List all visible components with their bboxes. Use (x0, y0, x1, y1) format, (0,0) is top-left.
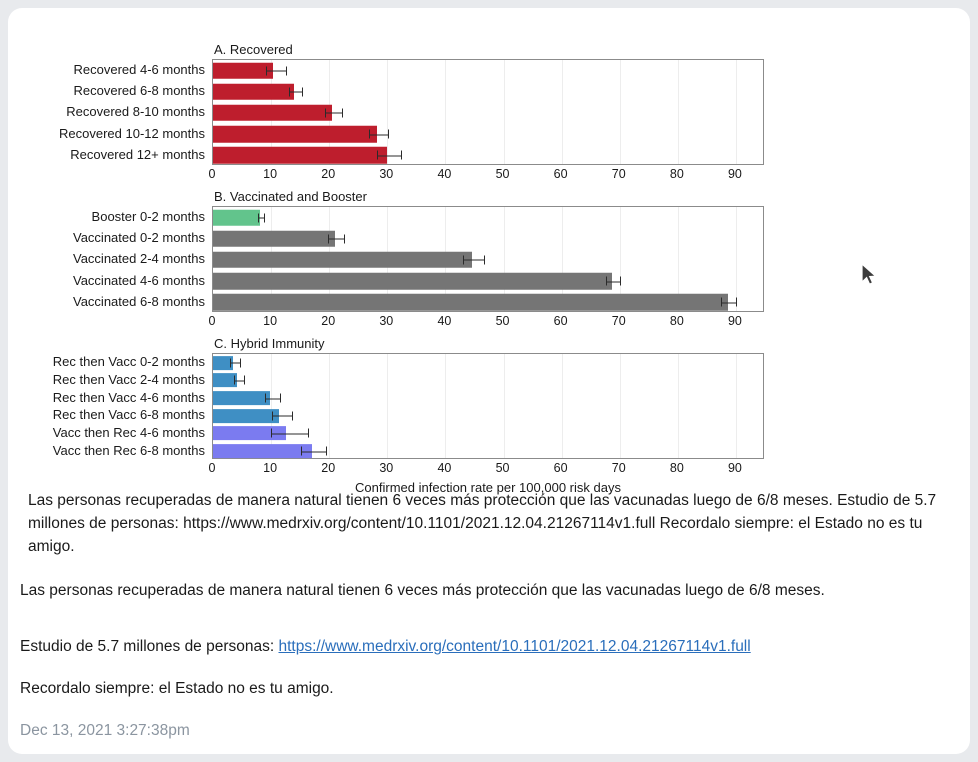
x-axis-ticks: 0102030405060708090 (212, 314, 764, 332)
paragraph-2-prefix: Estudio de 5.7 millones de personas: (20, 638, 279, 655)
bar (213, 62, 273, 79)
x-tick-label: 60 (554, 314, 568, 328)
post-paragraph-2: Estudio de 5.7 millones de personas: htt… (20, 636, 960, 658)
bar-row (213, 249, 763, 270)
error-bar (289, 87, 304, 96)
x-tick-label: 0 (209, 167, 216, 181)
category-label: Recovered 8-10 months (18, 101, 205, 122)
bar-row (213, 145, 763, 166)
panel-title: A. Recovered (214, 42, 293, 57)
category-label: Vacc then Rec 4-6 months (18, 424, 205, 442)
category-label: Recovered 12+ months (18, 144, 205, 165)
error-bar (234, 376, 245, 385)
category-label: Vaccinated 6-8 months (18, 291, 205, 312)
x-tick-label: 20 (321, 461, 335, 475)
bar-row (213, 271, 763, 292)
bar (213, 273, 612, 290)
bar-row (213, 425, 763, 443)
category-label: Recovered 6-8 months (18, 80, 205, 101)
x-tick-label: 30 (379, 314, 393, 328)
x-tick-label: 20 (321, 314, 335, 328)
bar-row (213, 292, 763, 313)
error-bar (301, 447, 327, 456)
image-alt-text: Las personas recuperadas de manera natur… (28, 489, 943, 558)
category-label: Booster 0-2 months (18, 206, 205, 227)
panel-title: C. Hybrid Immunity (214, 336, 325, 351)
error-bar (325, 108, 343, 117)
x-tick-label: 50 (496, 461, 510, 475)
post-card: A. RecoveredRecovered 4-6 monthsRecovere… (8, 8, 970, 754)
error-bar (369, 130, 389, 139)
bar-row (213, 207, 763, 228)
x-tick-label: 90 (728, 314, 742, 328)
bar-row (213, 372, 763, 390)
bar-row (213, 389, 763, 407)
bar-row (213, 442, 763, 460)
category-label: Recovered 4-6 months (18, 59, 205, 80)
x-axis-ticks: 0102030405060708090 (212, 167, 764, 185)
screen: A. RecoveredRecovered 4-6 monthsRecovere… (0, 0, 978, 762)
post-timestamp: Dec 13, 2021 3:27:38pm (20, 722, 190, 740)
error-bar (265, 394, 281, 403)
x-tick-label: 10 (263, 461, 277, 475)
x-tick-label: 70 (612, 461, 626, 475)
category-label: Rec then Vacc 6-8 months (18, 406, 205, 424)
category-label: Rec then Vacc 4-6 months (18, 388, 205, 406)
bar-row (213, 102, 763, 123)
panel-plot-area (212, 206, 764, 312)
bar-row (213, 60, 763, 81)
bar (213, 84, 294, 101)
bar (213, 252, 472, 269)
x-tick-label: 40 (437, 167, 451, 181)
panel-plot-area (212, 59, 764, 165)
bar (213, 444, 312, 458)
x-tick-label: 10 (263, 167, 277, 181)
error-bar (377, 151, 401, 160)
error-bar (328, 234, 345, 243)
error-bar (258, 213, 265, 222)
bar (213, 409, 279, 423)
error-bar (606, 277, 621, 286)
category-label: Vacc then Rec 6-8 months (18, 441, 205, 459)
bar-row (213, 124, 763, 145)
x-axis-ticks: 0102030405060708090 (212, 461, 764, 479)
error-bar (271, 429, 310, 438)
panel-plot-area (212, 353, 764, 459)
bar (213, 126, 377, 143)
x-tick-label: 70 (612, 167, 626, 181)
bar (213, 391, 270, 405)
x-tick-label: 90 (728, 461, 742, 475)
x-tick-label: 90 (728, 167, 742, 181)
bar-row (213, 81, 763, 102)
panel-category-labels: Recovered 4-6 monthsRecovered 6-8 months… (18, 59, 208, 165)
error-bar (266, 66, 287, 75)
x-tick-label: 30 (379, 461, 393, 475)
panel-title: B. Vaccinated and Booster (214, 189, 367, 204)
x-tick-label: 70 (612, 314, 626, 328)
bar-row (213, 407, 763, 425)
bar (213, 231, 335, 248)
x-tick-label: 0 (209, 314, 216, 328)
medrxiv-link[interactable]: https://www.medrxiv.org/content/10.1101/… (279, 638, 751, 655)
x-tick-label: 60 (554, 167, 568, 181)
x-tick-label: 80 (670, 461, 684, 475)
panel-category-labels: Booster 0-2 monthsVaccinated 0-2 monthsV… (18, 206, 208, 312)
x-tick-label: 60 (554, 461, 568, 475)
figure-three-panel-bar-chart: A. RecoveredRecovered 4-6 monthsRecovere… (18, 18, 768, 483)
x-tick-label: 20 (321, 167, 335, 181)
x-tick-label: 30 (379, 167, 393, 181)
category-label: Recovered 10-12 months (18, 123, 205, 144)
bar (213, 147, 387, 164)
x-tick-label: 50 (496, 314, 510, 328)
x-tick-label: 80 (670, 167, 684, 181)
error-bar (272, 411, 293, 420)
category-label: Vaccinated 4-6 months (18, 270, 205, 291)
category-label: Vaccinated 2-4 months (18, 248, 205, 269)
category-label: Rec then Vacc 2-4 months (18, 371, 205, 389)
category-label: Vaccinated 0-2 months (18, 227, 205, 248)
error-bar (721, 298, 738, 307)
post-paragraph-3: Recordalo siempre: el Estado no es tu am… (20, 678, 960, 700)
post-paragraph-1: Las personas recuperadas de manera natur… (20, 580, 960, 602)
x-tick-label: 40 (437, 461, 451, 475)
x-tick-label: 0 (209, 461, 216, 475)
category-label: Rec then Vacc 0-2 months (18, 353, 205, 371)
bar (213, 105, 332, 122)
bar (213, 209, 260, 226)
x-tick-label: 40 (437, 314, 451, 328)
bar-row (213, 228, 763, 249)
bar (213, 294, 728, 311)
bar-row (213, 354, 763, 372)
error-bar (463, 255, 485, 264)
panel-category-labels: Rec then Vacc 0-2 monthsRec then Vacc 2-… (18, 353, 208, 459)
x-tick-label: 50 (496, 167, 510, 181)
x-tick-label: 80 (670, 314, 684, 328)
error-bar (230, 358, 241, 367)
x-tick-label: 10 (263, 314, 277, 328)
